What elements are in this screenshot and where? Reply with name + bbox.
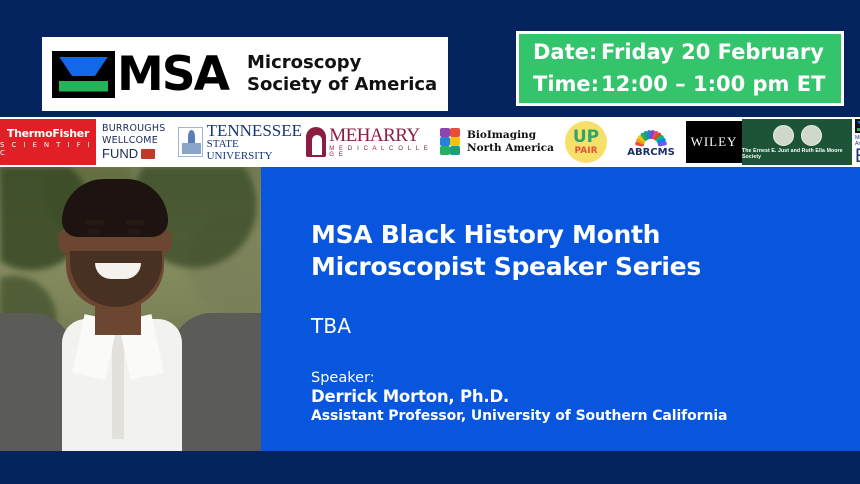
msa-ecc-bottom-row: ECC Early Career Committee	[855, 147, 860, 166]
time-row: Time: 12:00 – 1:00 pm ET	[533, 69, 841, 100]
microscope-lens-icon	[52, 51, 115, 98]
thermo-fisher-tagline: S C I E N T I F I C	[0, 141, 96, 157]
ejrm-portraits-icon	[773, 125, 822, 146]
bottom-bar	[0, 451, 860, 484]
bioimaging-color-fan-icon	[440, 128, 462, 156]
tsu-wordmark: TENNESSEE STATE UNIVERSITY	[207, 122, 302, 162]
sponsor-logo-strip: ThermoFisher S C I E N T I F I C BURROUG…	[0, 117, 860, 167]
series-title: MSA Black History Month Microscopist Spe…	[311, 219, 860, 284]
speaker-affiliation: Assistant Professor, University of South…	[311, 407, 860, 425]
thermo-fisher-name: ThermoFisher	[7, 127, 89, 140]
ejrm-caption: The Ernest E. Just and Ruth Ella Moore S…	[742, 148, 852, 160]
main-content-panel: MSA Black History Month Microscopist Spe…	[261, 167, 860, 451]
bwf-mark-icon	[141, 149, 155, 159]
meharry-line2: M E D I C A L C O L L E G E	[329, 146, 438, 158]
tsu-line1: TENNESSEE	[207, 122, 302, 139]
msa-logo: MSA Microscopy Society of America	[42, 37, 448, 111]
up-pair-line1: UP	[573, 129, 599, 146]
speaker-photo	[0, 167, 262, 484]
bwf-line3: FUND	[102, 146, 138, 161]
tsu-building-icon	[178, 127, 203, 157]
meharry-arch-icon	[306, 127, 326, 157]
msa-ecc-line3: ECC	[855, 147, 860, 166]
msa-ecc-lens-icon	[855, 119, 860, 133]
date-time-banner: Date: Friday 20 February Time: 12:00 – 1…	[516, 31, 844, 106]
meharry-wordmark: MEHARRY M E D I C A L C O L L E G E	[329, 126, 438, 158]
date-row: Date: Friday 20 February	[533, 37, 841, 68]
meharry-line1: MEHARRY	[329, 126, 438, 145]
sponsor-logo-msa-ecc: MSA Microscopy Society of America ECC Ea…	[852, 118, 860, 166]
bioimaging-line1: BioImaging	[467, 129, 536, 141]
series-title-line1: MSA Black History Month	[311, 219, 860, 251]
msa-logo-letters: MSA	[117, 51, 228, 98]
photo-eye-left	[87, 229, 102, 235]
header-bar: MSA Microscopy Society of America Date: …	[0, 0, 860, 117]
msa-logo-mark: MSA	[52, 51, 228, 98]
sponsor-logo-meharry-medical-college: MEHARRY M E D I C A L C O L L E G E	[302, 119, 438, 165]
talk-title: TBA	[311, 314, 860, 338]
msa-logo-wordmark-line1: Microscopy	[247, 52, 437, 74]
msa-logo-wordmark: Microscopy Society of America	[247, 52, 437, 96]
bioimaging-wordmark: BioImaging North America	[467, 129, 554, 155]
speaker-block: Speaker: Derrick Morton, Ph.D. Assistant…	[311, 370, 860, 426]
wiley-label: WILEY	[691, 134, 738, 150]
slide-canvas: MSA Microscopy Society of America Date: …	[0, 0, 860, 484]
sponsor-logo-ernest-just-ruth-moore-society: The Ernest E. Just and Ruth Ella Moore S…	[742, 119, 852, 165]
up-pair-badge-icon: UP PAIR	[565, 121, 607, 163]
bwf-line3-wrap: FUND	[102, 146, 155, 161]
main-content-inner: MSA Black History Month Microscopist Spe…	[261, 167, 860, 425]
bwf-line2: WELLCOME	[102, 135, 158, 147]
msa-logo-wordmark-line2: Society of America	[247, 74, 437, 96]
abrcms-label: ABRCMS	[627, 147, 675, 158]
photo-eyebrow-left	[85, 220, 104, 225]
sponsor-logo-burroughs-wellcome-fund: BURROUGHS WELLCOME FUND	[96, 119, 174, 165]
photo-eyebrow-right	[126, 220, 145, 225]
sponsor-logo-bioimaging-north-america: BioImaging North America	[438, 119, 556, 165]
up-pair-line2: PAIR	[574, 147, 597, 156]
speaker-label: Speaker:	[311, 370, 860, 387]
date-value: Friday 20 February	[601, 37, 824, 68]
speaker-name: Derrick Morton, Ph.D.	[311, 387, 860, 408]
abrcms-burst-icon	[632, 126, 670, 146]
tsu-line2: STATE UNIVERSITY	[207, 139, 302, 161]
sponsor-logo-up-pair: UP PAIR	[556, 119, 616, 165]
sponsor-logo-wiley: WILEY	[686, 121, 742, 163]
time-value: 12:00 – 1:00 pm ET	[601, 69, 825, 100]
photo-eye-right	[128, 229, 143, 235]
sponsor-logo-thermo-fisher: ThermoFisher S C I E N T I F I C	[0, 119, 96, 165]
series-title-line2: Microscopist Speaker Series	[311, 251, 860, 283]
bioimaging-line2: North America	[467, 142, 554, 154]
msa-ecc-top-row: MSA	[855, 118, 860, 134]
sponsor-logo-tennessee-state-university: TENNESSEE STATE UNIVERSITY	[174, 119, 302, 165]
photo-hair	[62, 179, 168, 237]
time-label: Time:	[533, 69, 601, 100]
bwf-line1: BURROUGHS	[102, 123, 165, 135]
sponsor-logo-abrcms: ABRCMS	[616, 119, 686, 165]
date-label: Date:	[533, 37, 601, 68]
